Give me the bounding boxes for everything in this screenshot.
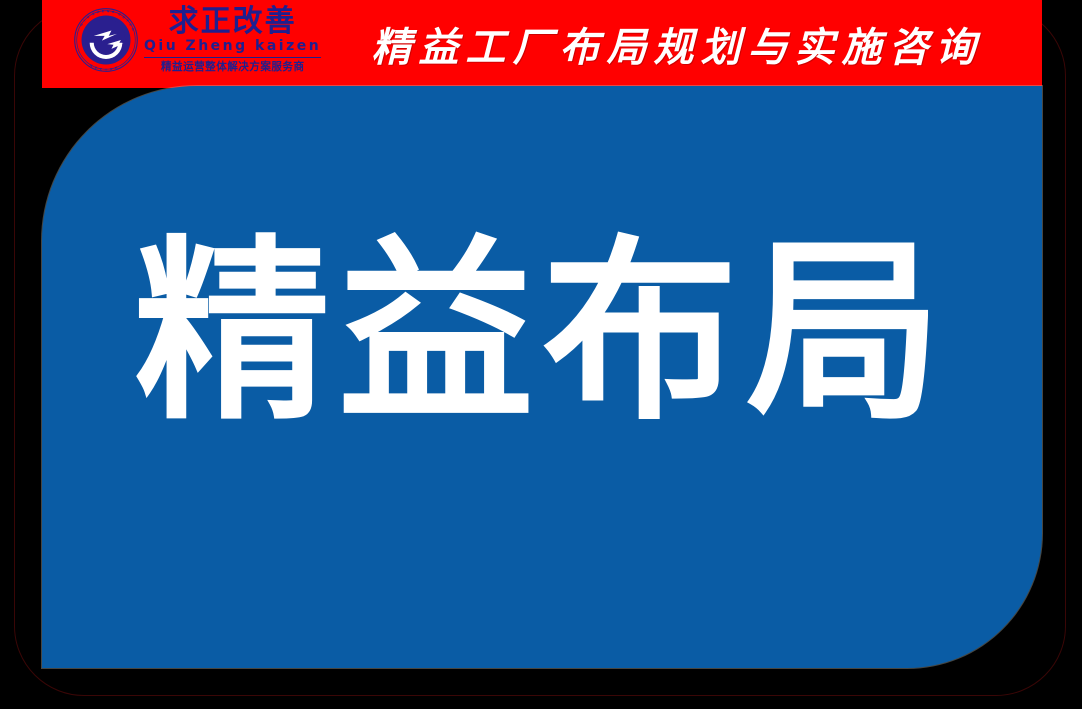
header-title: 精益工厂布局规划与实施咨询: [327, 0, 1027, 88]
svg-text:I: I: [105, 68, 106, 72]
slide-root: Q I U Z H E N G E N T E R K A I Z: [0, 0, 1082, 709]
brand-text-block: 求正改善 Qiu Zheng kaizen 精益运营整体解决方案服务商: [144, 3, 321, 73]
brand-name-pinyin: Qiu Zheng kaizen: [144, 38, 321, 58]
body-panel: 精益布局: [42, 86, 1042, 668]
svg-text:E: E: [102, 9, 104, 13]
brand-tagline: 精益运营整体解决方案服务商: [161, 60, 305, 73]
brand-block: Q I U Z H E N G E N T E R K A I Z: [72, 3, 312, 85]
hero-title: 精益布局: [134, 235, 950, 431]
qiuzheng-circular-seal-icon: Q I U Z H E N G E N T E R K A I Z: [72, 6, 140, 74]
header-band: Q I U Z H E N G E N T E R K A I Z: [42, 0, 1042, 88]
brand-name-cn: 求正改善: [169, 7, 297, 37]
hero-title-wrap: 精益布局: [42, 86, 1042, 668]
